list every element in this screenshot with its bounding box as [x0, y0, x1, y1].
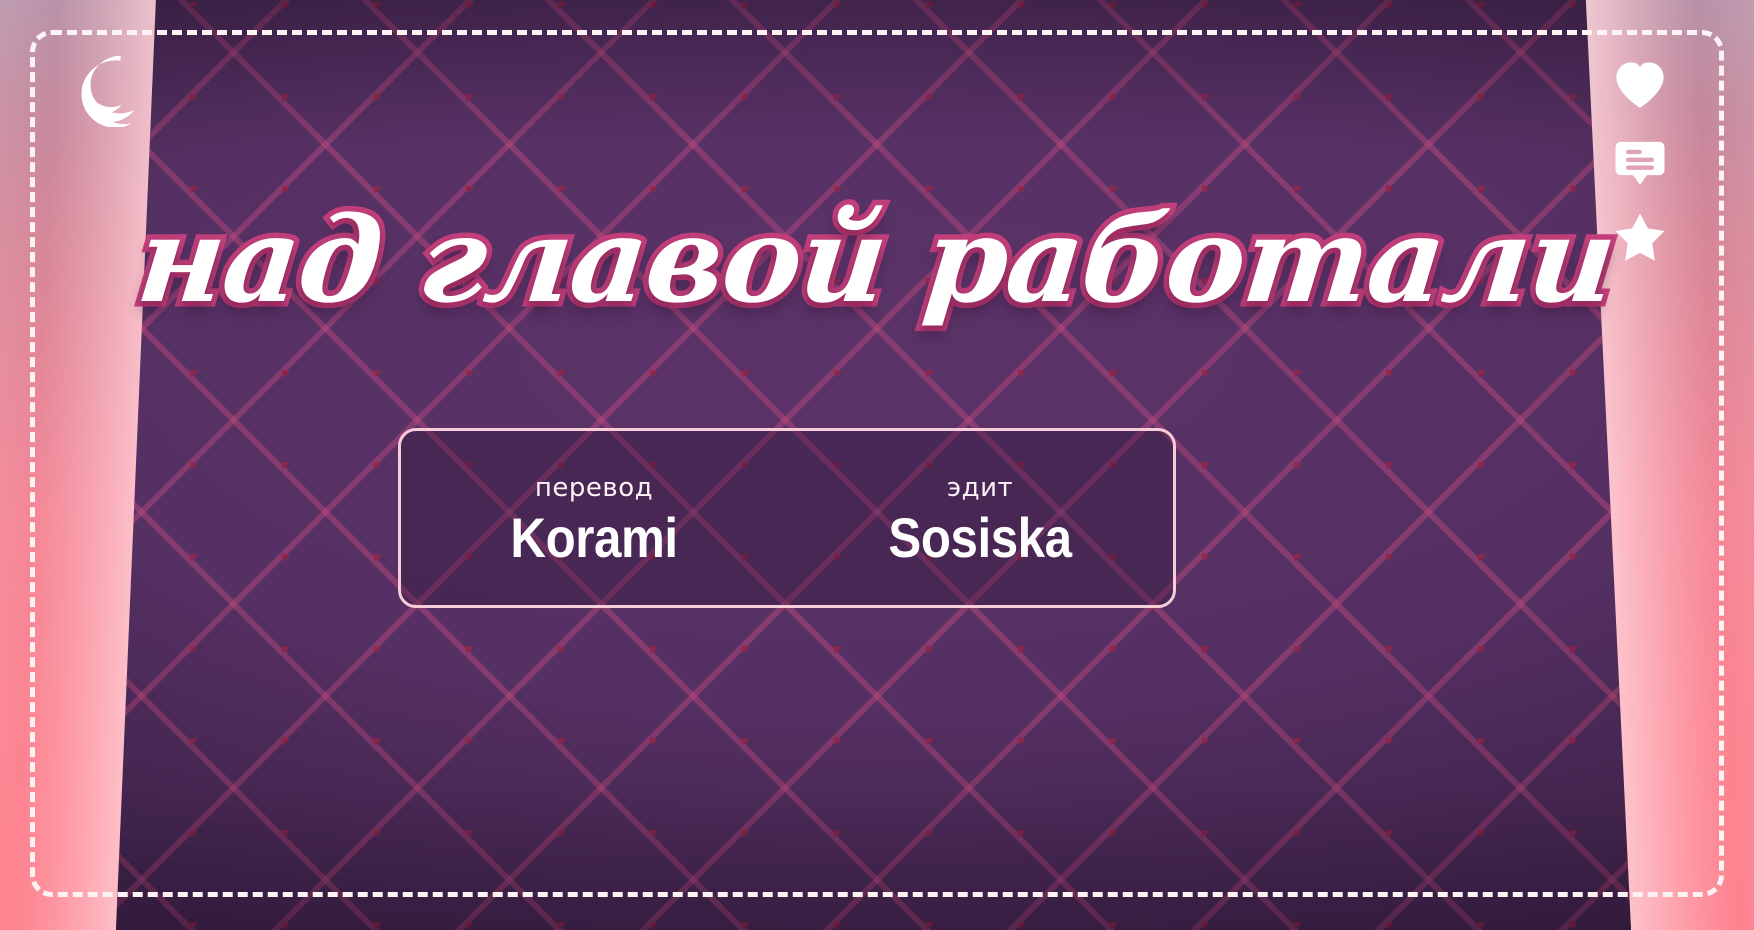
credit-entry-translator: перевод Korami	[401, 468, 787, 568]
credit-name-value: Sosiska	[810, 507, 1150, 569]
credit-role-label: перевод	[401, 474, 787, 503]
crescent-moon-icon	[68, 55, 140, 127]
credit-role-label: эдит	[787, 474, 1173, 503]
comment-bubble-icon[interactable]	[1612, 134, 1668, 190]
credit-name-value: Korami	[424, 507, 764, 569]
credit-entry-editor: эдит Sosiska	[787, 468, 1173, 568]
credits-box: перевод Korami эдит Sosiska	[398, 428, 1176, 608]
heart-icon[interactable]	[1612, 58, 1668, 114]
page-title-text: над главой работали	[133, 196, 1622, 323]
page-title: над главой работали	[0, 196, 1754, 323]
credits-page: над главой работали перевод Korami эдит …	[0, 0, 1754, 930]
